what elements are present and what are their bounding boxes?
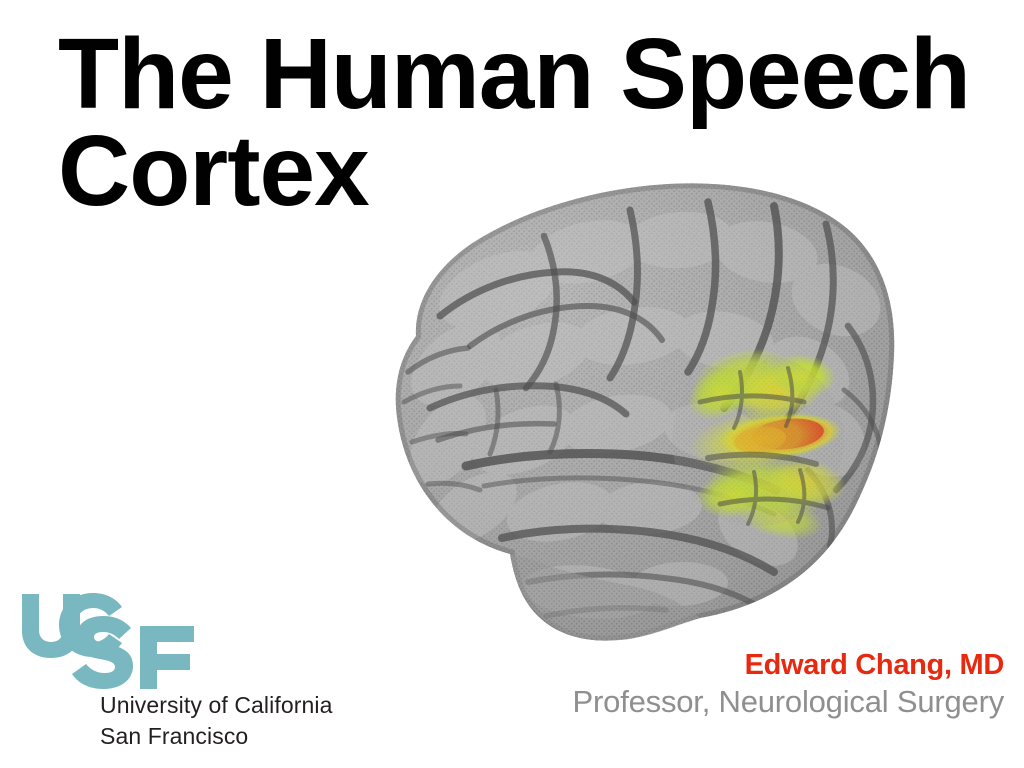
page-title-line-1: The Human Speech	[58, 26, 1008, 123]
ucsf-wordmark-line-2: San Francisco	[100, 721, 332, 752]
ucsf-logo: University of California San Francisco	[18, 592, 368, 752]
title-slide: The Human Speech Cortex	[0, 0, 1024, 768]
byline: Edward Chang, MD Professor, Neurological…	[444, 650, 1004, 722]
ucsf-wordmark-line-1: University of California	[100, 690, 332, 721]
page-title: The Human Speech Cortex	[58, 26, 1008, 220]
presenter-name: Edward Chang, MD	[444, 650, 1004, 680]
ucsf-wordmark: University of California San Francisco	[100, 690, 332, 751]
ucsf-logo-mark-svg	[18, 592, 218, 690]
ucsf-logo-mark	[18, 592, 218, 690]
ucsf-letters	[22, 593, 194, 689]
presenter-title: Professor, Neurological Surgery	[444, 683, 1004, 722]
page-title-line-2: Cortex	[58, 123, 1008, 220]
